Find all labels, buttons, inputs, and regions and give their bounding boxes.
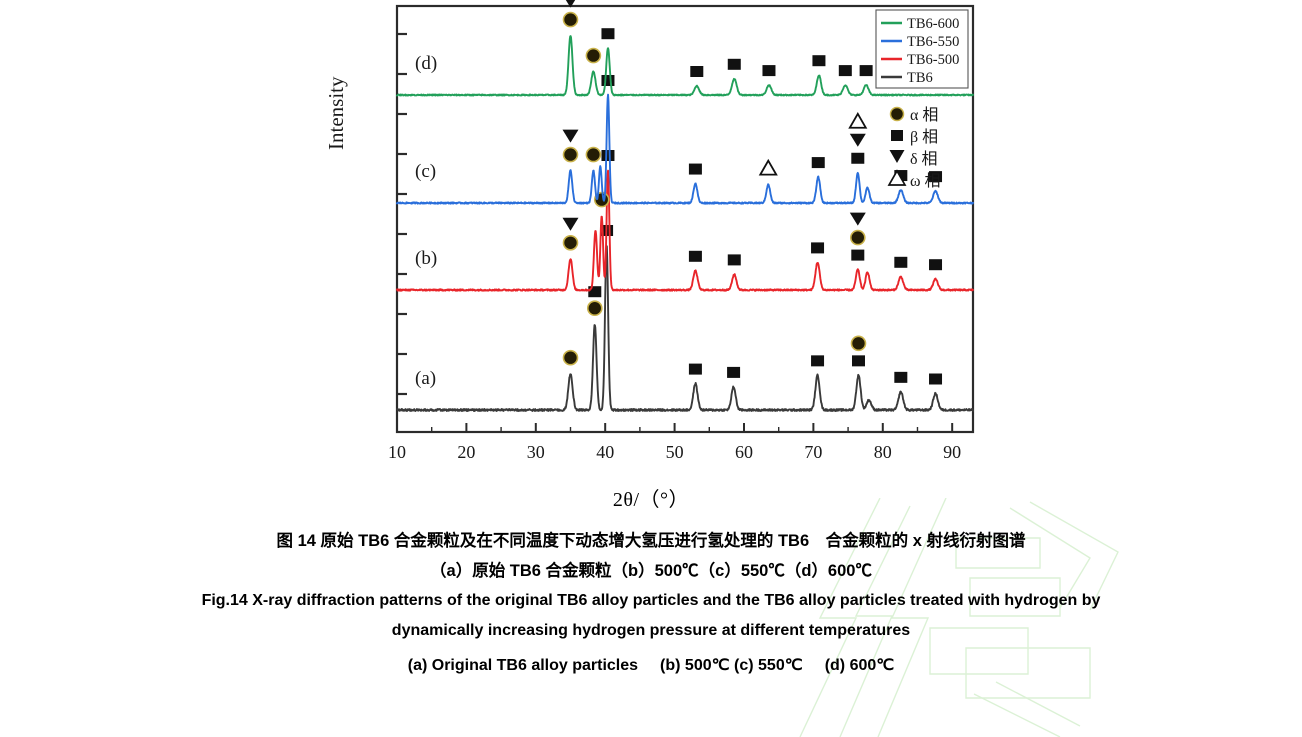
y-axis-ticks bbox=[397, 34, 407, 394]
marker-beta-square-icon bbox=[601, 150, 614, 161]
marker-beta-square-icon bbox=[929, 374, 942, 385]
legend-label-tb6-500: TB6-500 bbox=[907, 52, 959, 68]
marker-delta-triangle-down-icon bbox=[562, 218, 578, 231]
x-tick-label: 10 bbox=[388, 442, 406, 462]
x-tick-label: 40 bbox=[596, 442, 614, 462]
x-tick-label: 90 bbox=[943, 442, 961, 462]
spectrum-line bbox=[397, 171, 973, 291]
x-tick-label: 50 bbox=[666, 442, 684, 462]
panel-label-c: (c) bbox=[415, 161, 436, 182]
marker-beta-square-icon bbox=[762, 65, 775, 76]
marker-beta-square-icon bbox=[690, 66, 703, 77]
marker-beta-square-icon bbox=[929, 259, 942, 270]
marker-omega-triangle-up-icon bbox=[760, 161, 776, 175]
marker-alpha-circle-icon bbox=[586, 148, 600, 162]
marker-beta-square-icon bbox=[727, 367, 740, 378]
marker-alpha-circle-icon bbox=[563, 13, 577, 27]
x-tick-label: 30 bbox=[527, 442, 545, 462]
marker-beta-square-icon bbox=[811, 242, 824, 253]
marker-delta-triangle-down-icon bbox=[562, 130, 578, 143]
y-axis-label: Intensity bbox=[324, 77, 349, 151]
marker-alpha-circle-icon bbox=[563, 351, 577, 365]
x-tick-label: 80 bbox=[874, 442, 892, 462]
x-axis-ticks: 102030405060708090 bbox=[388, 423, 961, 462]
spectrum-line bbox=[397, 95, 973, 204]
marker-beta-square-icon bbox=[728, 254, 741, 265]
caption-chinese-line1: 图 14 原始 TB6 合金颗粒及在不同温度下动态增大氢压进行氢处理的 TB6 … bbox=[0, 527, 1302, 551]
phase-alpha-circle-icon bbox=[891, 108, 904, 121]
panel-label-b: (b) bbox=[415, 248, 437, 269]
marker-beta-square-icon bbox=[851, 250, 864, 261]
caption-panel-a: (a) Original TB6 alloy particles bbox=[408, 657, 638, 674]
marker-beta-square-icon bbox=[588, 286, 601, 297]
panel-label-a: (a) bbox=[415, 368, 436, 389]
caption-panel-bc: (b) 500℃ (c) 550℃ bbox=[660, 657, 803, 674]
panel-label-d: (d) bbox=[415, 53, 437, 74]
marker-beta-square-icon bbox=[689, 251, 702, 262]
marker-beta-square-icon bbox=[860, 65, 873, 76]
marker-beta-square-icon bbox=[811, 355, 824, 366]
x-tick-label: 20 bbox=[457, 442, 475, 462]
marker-alpha-circle-icon bbox=[563, 236, 577, 250]
caption-english-line2: dynamically increasing hydrogen pressure… bbox=[0, 622, 1302, 640]
series-legend: TB6-600TB6-550TB6-500TB6 bbox=[876, 10, 968, 88]
caption-english-line3: (a) Original TB6 alloy particles(b) 500℃… bbox=[0, 655, 1302, 675]
phase-legend: α 相β 相δ 相ω 相 bbox=[889, 106, 941, 190]
marker-beta-square-icon bbox=[728, 59, 741, 70]
marker-beta-square-icon bbox=[839, 65, 852, 76]
legend-label-tb6-550: TB6-550 bbox=[907, 34, 959, 50]
marker-beta-square-icon bbox=[601, 75, 614, 86]
marker-alpha-circle-icon bbox=[851, 231, 865, 245]
phase-legend-label: δ 相 bbox=[910, 150, 938, 168]
caption-chinese-line2: （a）原始 TB6 合金颗粒（b）500℃（c）550℃（d）600℃ bbox=[0, 557, 1302, 581]
marker-alpha-circle-icon bbox=[586, 49, 600, 63]
legend-label-tb6-600: TB6-600 bbox=[907, 16, 959, 32]
xrd-chart-svg: 102030405060708090(a)(b)(c)(d)TB6-600TB6… bbox=[0, 0, 1302, 470]
marker-beta-square-icon bbox=[812, 55, 825, 66]
marker-beta-square-icon bbox=[689, 164, 702, 175]
marker-beta-square-icon bbox=[894, 372, 907, 383]
phase-beta-square-icon bbox=[891, 130, 903, 141]
marker-beta-square-icon bbox=[689, 364, 702, 375]
phase-delta-triangle-down-icon bbox=[890, 150, 905, 163]
caption-english-line1: Fig.14 X-ray diffraction patterns of the… bbox=[0, 592, 1302, 610]
marker-beta-square-icon bbox=[601, 28, 614, 39]
marker-omega-triangle-up-icon bbox=[850, 114, 866, 128]
marker-alpha-circle-icon bbox=[588, 301, 602, 315]
marker-beta-square-icon bbox=[852, 355, 865, 366]
phase-legend-label: ω 相 bbox=[910, 172, 941, 190]
spectrum-line bbox=[397, 246, 973, 411]
legend-label-tb6: TB6 bbox=[907, 70, 933, 86]
marker-beta-square-icon bbox=[812, 157, 825, 168]
marker-beta-square-icon bbox=[851, 153, 864, 164]
caption-panel-d: (d) 600℃ bbox=[825, 657, 895, 674]
phase-legend-label: α 相 bbox=[910, 106, 938, 124]
spectrum-tb6-500: (b) bbox=[397, 150, 973, 291]
figure-root: Intensity 102030405060708090(a)(b)(c)(d)… bbox=[0, 0, 1302, 737]
marker-delta-triangle-down-icon bbox=[850, 134, 866, 147]
x-axis-title: 2θ/（°） bbox=[0, 483, 1302, 512]
phase-legend-label: β 相 bbox=[910, 128, 938, 146]
xrd-plot-area: Intensity 102030405060708090(a)(b)(c)(d)… bbox=[0, 0, 1302, 470]
spectrum-tb6: (a) bbox=[397, 225, 973, 411]
marker-beta-square-icon bbox=[894, 257, 907, 268]
x-tick-label: 70 bbox=[804, 442, 822, 462]
x-tick-label: 60 bbox=[735, 442, 753, 462]
marker-alpha-circle-icon bbox=[563, 148, 577, 162]
marker-alpha-circle-icon bbox=[851, 336, 865, 350]
marker-delta-triangle-down-icon bbox=[850, 213, 866, 226]
